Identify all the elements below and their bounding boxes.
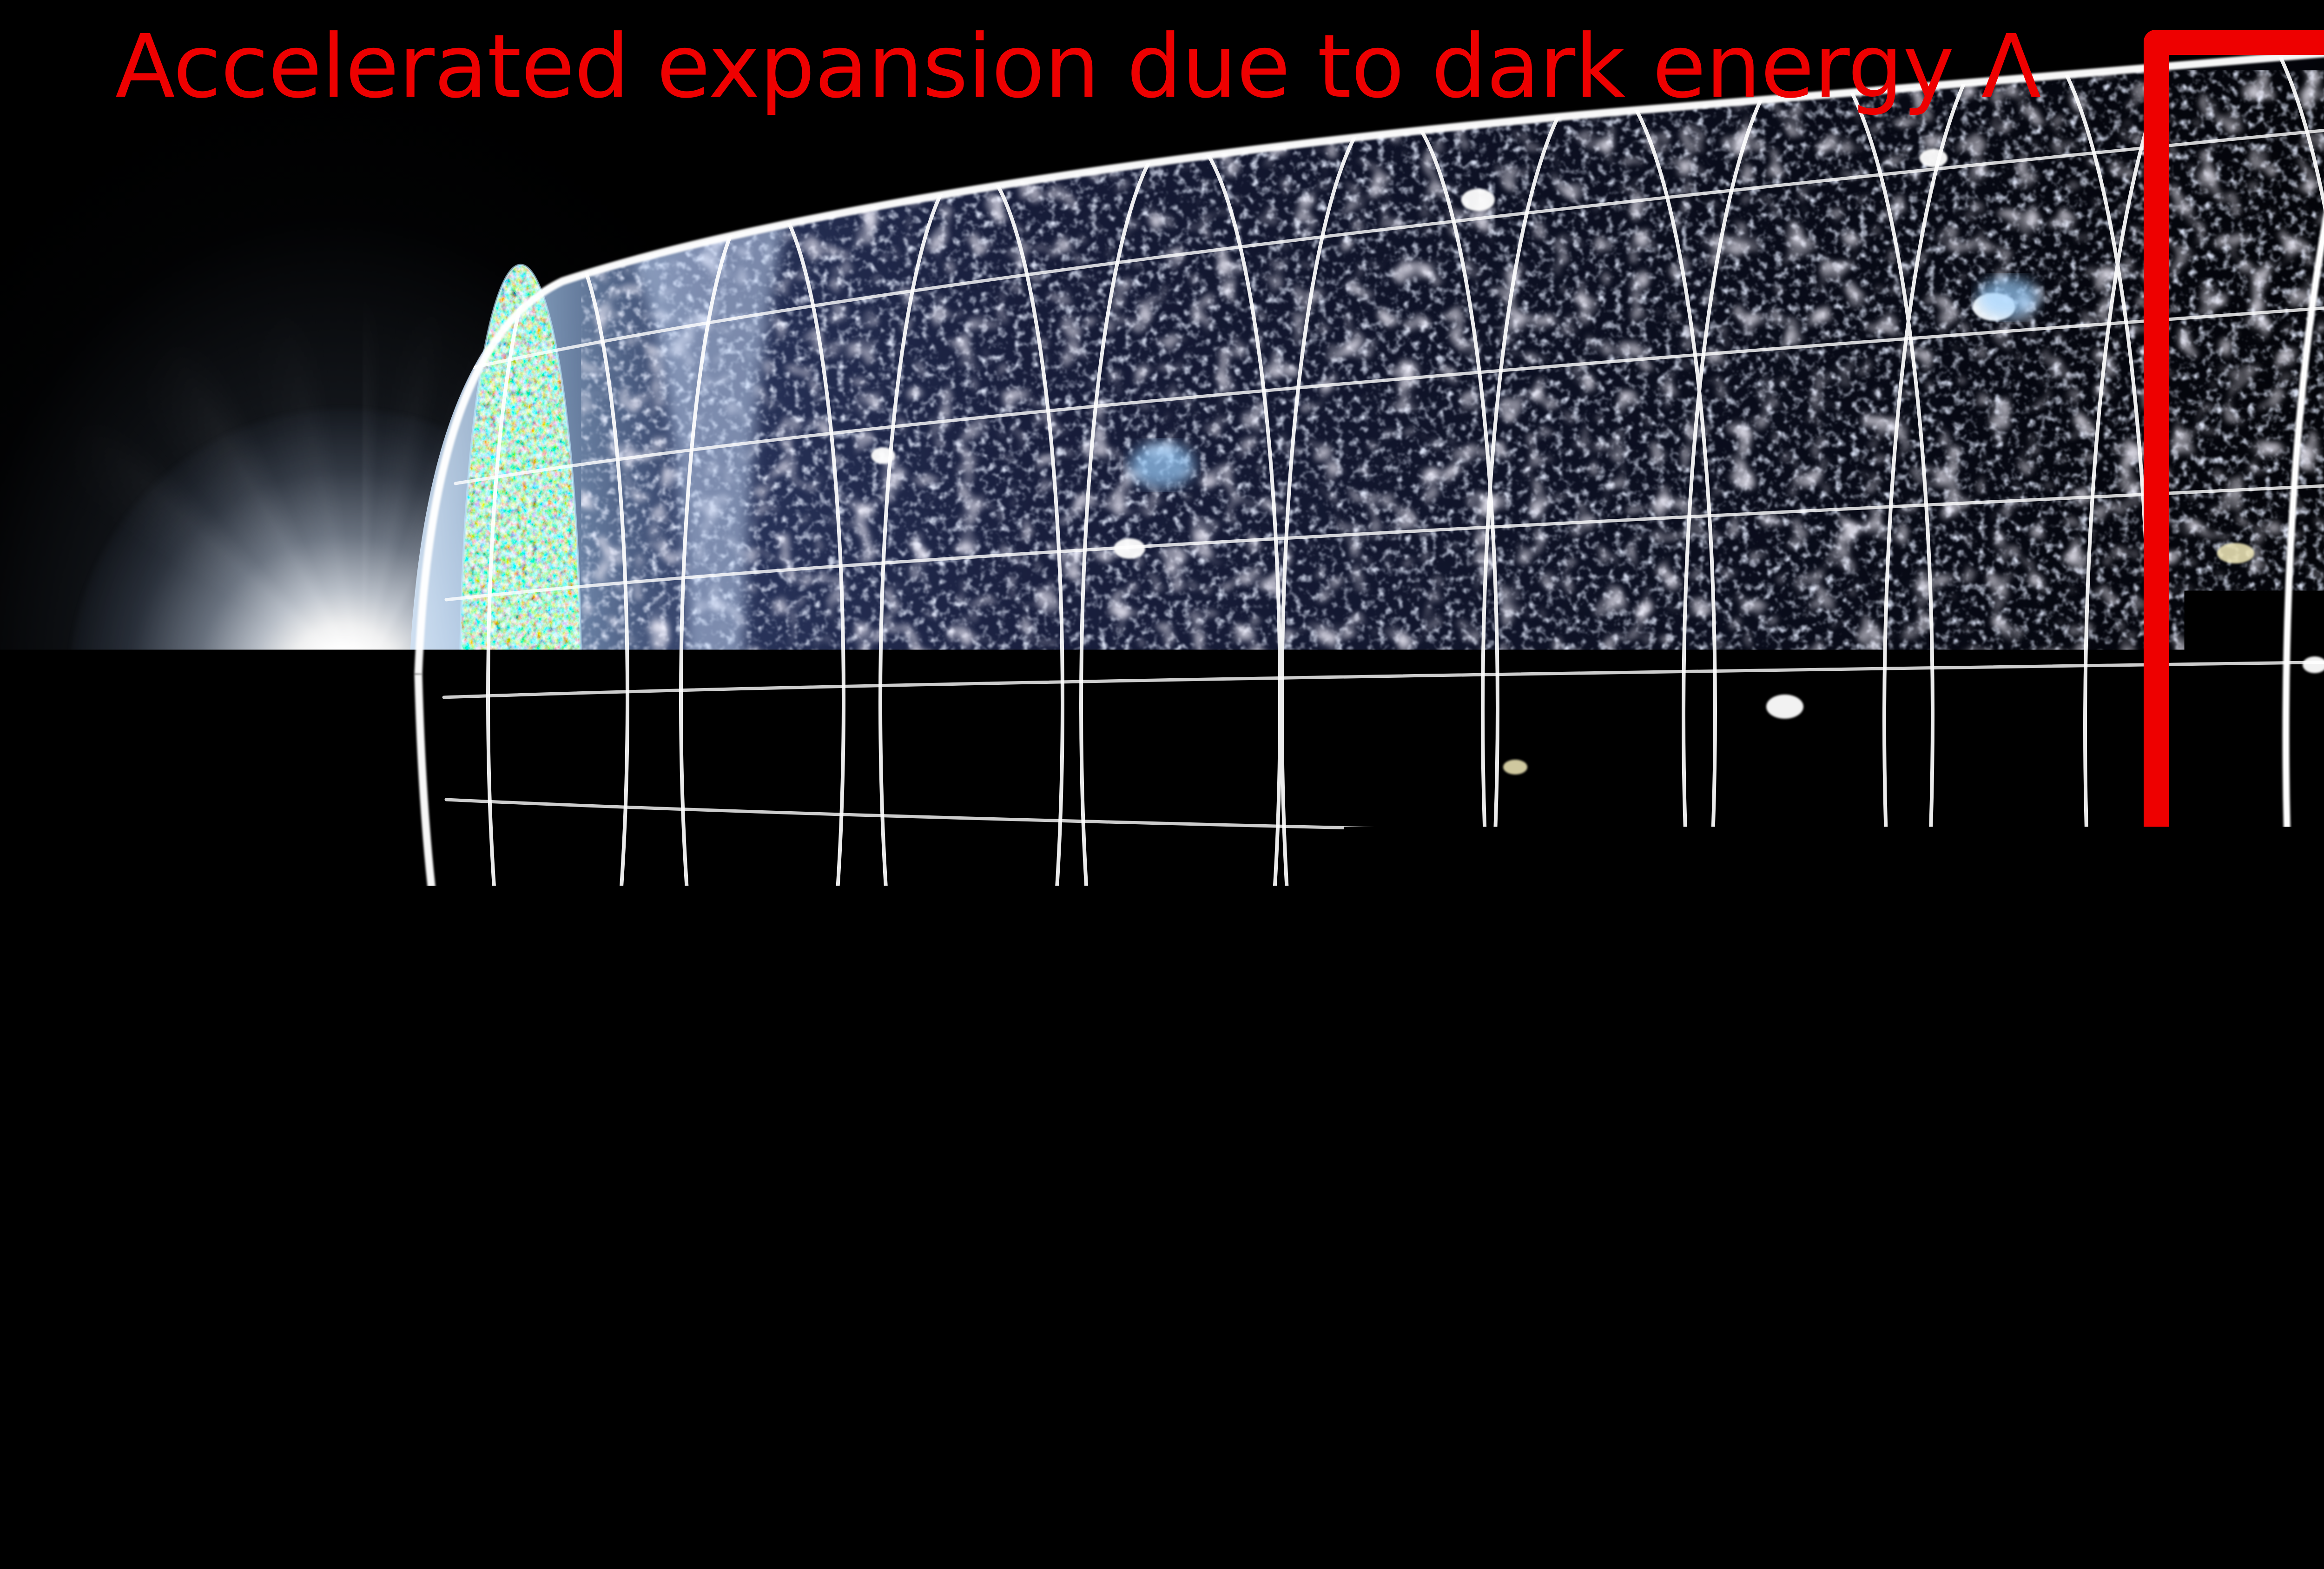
nasa-expanding-universe-image <box>0 0 2324 1569</box>
screenshot-root: Accelerated expansion due to dark energy… <box>0 0 2324 1569</box>
expansion-cone-svg <box>0 0 2324 1569</box>
expansion-cone <box>0 0 2324 1569</box>
image-credit: Credit: NASA <box>39 1473 386 1527</box>
page-title: Accelerated expansion due to dark energy… <box>115 22 2040 112</box>
